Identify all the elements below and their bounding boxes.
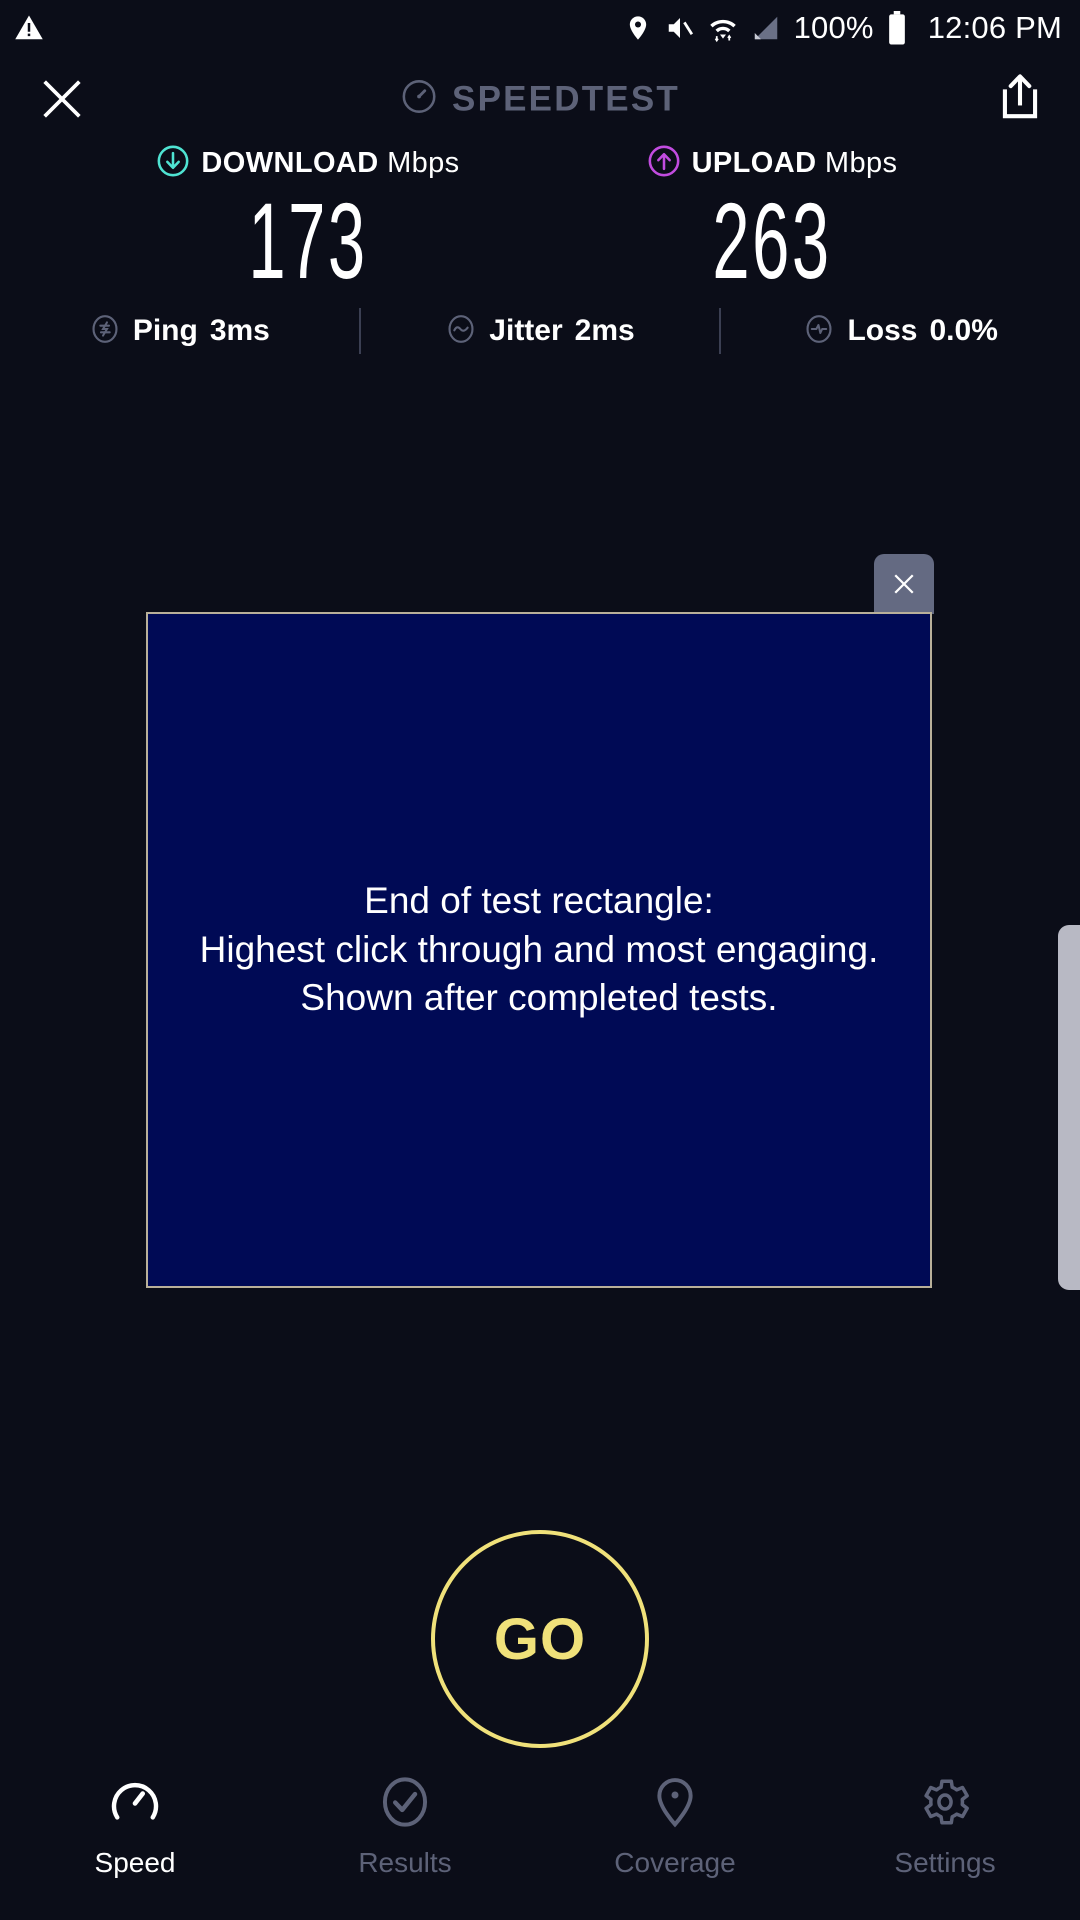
ad-close-button[interactable] bbox=[874, 554, 934, 614]
battery-percent-label: 100% bbox=[794, 10, 874, 46]
warning-triangle-icon bbox=[14, 13, 44, 43]
gear-icon bbox=[917, 1774, 973, 1835]
advertisement-banner[interactable]: End of test rectangle: Highest click thr… bbox=[146, 612, 932, 1288]
nav-item-coverage[interactable]: Coverage bbox=[540, 1774, 810, 1879]
nav-label-results: Results bbox=[358, 1847, 451, 1879]
battery-full-icon bbox=[887, 11, 907, 45]
vertical-scrollbar[interactable] bbox=[1058, 925, 1080, 1290]
speedometer-icon bbox=[400, 78, 438, 121]
ad-line-3: Shown after completed tests. bbox=[200, 974, 879, 1023]
ad-line-2: Highest click through and most engaging. bbox=[200, 926, 879, 975]
loss-value: 0.0% bbox=[930, 314, 998, 348]
nav-item-speed[interactable]: Speed bbox=[0, 1774, 270, 1879]
nav-label-coverage: Coverage bbox=[614, 1847, 735, 1879]
loss-label: Loss bbox=[847, 314, 917, 348]
close-icon bbox=[36, 73, 88, 125]
location-icon bbox=[624, 13, 652, 43]
jitter-value: 2ms bbox=[575, 314, 635, 348]
map-pin-icon bbox=[647, 1774, 703, 1835]
ping-value: 3ms bbox=[210, 314, 270, 348]
go-button-label: GO bbox=[494, 1606, 586, 1673]
download-value: 173 bbox=[190, 186, 426, 296]
upload-label: UPLOAD bbox=[692, 147, 817, 179]
jitter-icon bbox=[445, 313, 477, 350]
nav-item-results[interactable]: Results bbox=[270, 1774, 540, 1879]
speedtest-app-screen: 100% 12:06 PM SP bbox=[0, 0, 1080, 1920]
go-button[interactable]: GO bbox=[431, 1530, 649, 1748]
nav-item-settings[interactable]: Settings bbox=[810, 1774, 1080, 1879]
jitter-label: Jitter bbox=[489, 314, 562, 348]
advertisement-container: End of test rectangle: Highest click thr… bbox=[146, 612, 932, 1288]
stat-loss: Loss 0.0% bbox=[721, 313, 1080, 350]
download-metric: DOWNLOAD Mbps 173 bbox=[118, 142, 498, 296]
upload-value: 263 bbox=[654, 186, 890, 296]
brand-logo: SPEEDTEST bbox=[400, 78, 680, 121]
cellular-signal-icon bbox=[751, 13, 781, 43]
check-circle-icon bbox=[377, 1774, 433, 1835]
status-bar-clock: 12:06 PM bbox=[928, 10, 1062, 46]
stat-jitter: Jitter 2ms bbox=[361, 313, 720, 350]
ad-text: End of test rectangle: Highest click thr… bbox=[186, 877, 893, 1023]
status-bar: 100% 12:06 PM bbox=[0, 0, 1080, 56]
app-header: SPEEDTEST bbox=[0, 56, 1080, 142]
nav-label-settings: Settings bbox=[894, 1847, 995, 1879]
brand-title: SPEEDTEST bbox=[452, 79, 680, 119]
nav-label-speed: Speed bbox=[95, 1847, 176, 1879]
circle-arrow-down-icon bbox=[156, 144, 190, 183]
share-icon bbox=[994, 71, 1046, 127]
ping-label: Ping bbox=[133, 314, 198, 348]
mute-icon bbox=[665, 13, 695, 43]
download-label: DOWNLOAD bbox=[201, 147, 378, 179]
close-app-button[interactable] bbox=[36, 73, 88, 125]
bottom-navigation: Speed Results Coverage bbox=[0, 1760, 1080, 1920]
loss-icon bbox=[803, 313, 835, 350]
stat-ping: Ping 3ms bbox=[0, 313, 359, 350]
speedometer-icon bbox=[107, 1774, 163, 1835]
share-button[interactable] bbox=[994, 71, 1046, 127]
upload-unit: Mbps bbox=[825, 147, 898, 179]
download-unit: Mbps bbox=[387, 147, 460, 179]
close-icon bbox=[889, 569, 919, 599]
connection-stats-row: Ping 3ms Jitter 2ms Loss 0.0% bbox=[0, 300, 1080, 362]
results-summary: DOWNLOAD Mbps 173 UPLOAD bbox=[0, 142, 1080, 296]
circle-arrow-up-icon bbox=[647, 144, 681, 183]
ad-line-1: End of test rectangle: bbox=[200, 877, 879, 926]
ping-icon bbox=[89, 313, 121, 350]
wifi-icon bbox=[708, 13, 738, 43]
upload-metric: UPLOAD Mbps 263 bbox=[582, 142, 962, 296]
